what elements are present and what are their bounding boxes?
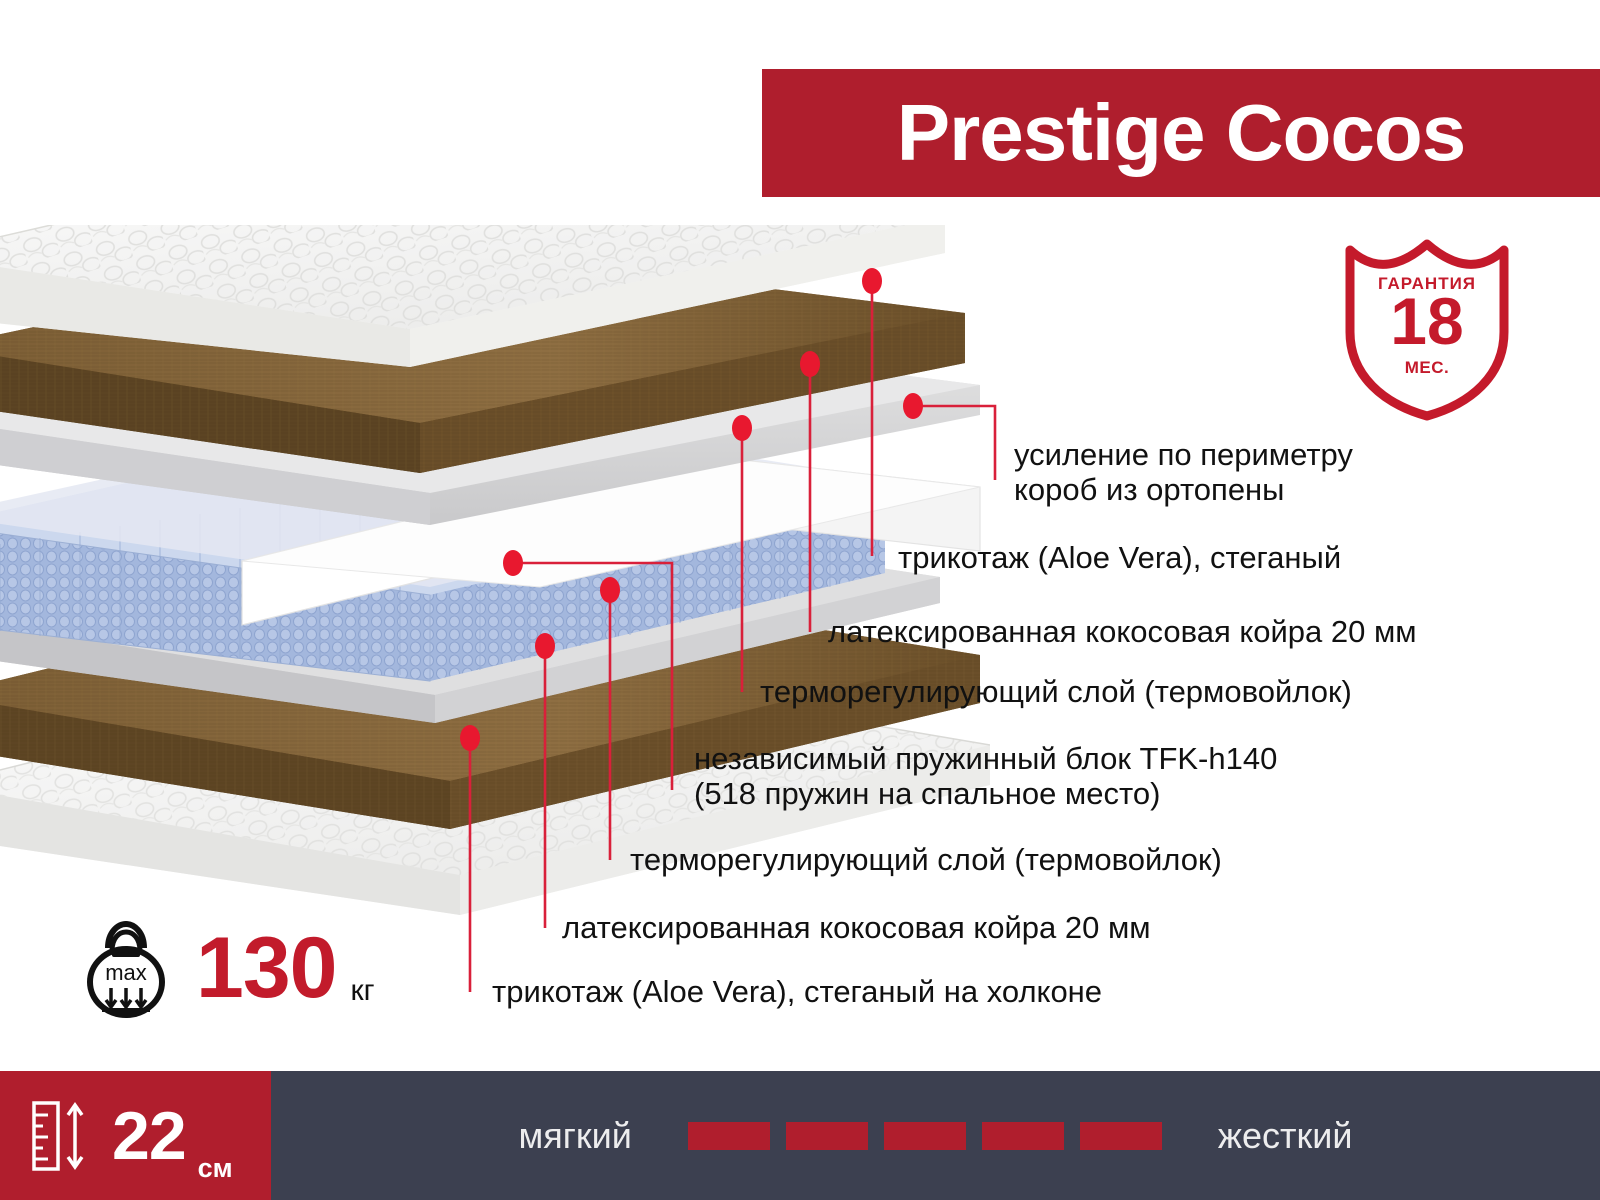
- kettlebell-icon: max: [78, 918, 174, 1018]
- firmness-segment: [884, 1122, 966, 1150]
- max-weight-unit: кг: [351, 974, 375, 1020]
- page-title: Prestige Cocos: [897, 93, 1465, 173]
- height-value: 22: [112, 1102, 186, 1170]
- firmness-segment: [786, 1122, 868, 1150]
- max-weight-indicator: max 130 кг: [78, 915, 438, 1020]
- layer-label-knit-bottom: трикотаж (Aloe Vera), стеганый на холкон…: [492, 975, 1102, 1010]
- layer-label-spring-block: независимый пружинный блок TFK-h140 (518…: [694, 742, 1277, 811]
- mattress-cutaway-illustration: [0, 225, 990, 925]
- ruler-icon: [30, 1099, 100, 1173]
- svg-text:max: max: [105, 960, 147, 985]
- max-weight-value: 130: [196, 925, 337, 1011]
- warranty-badge: ГАРАНТИЯ 18 МЕС.: [1342, 236, 1512, 422]
- warranty-unit: МЕС.: [1342, 358, 1512, 378]
- firmness-soft-label: мягкий: [519, 1115, 632, 1157]
- firmness-segment: [982, 1122, 1064, 1150]
- layer-label-felt-top: терморегулирующий слой (термовойлок): [760, 675, 1352, 710]
- height-indicator: 22 см: [0, 1071, 271, 1200]
- firmness-scale: мягкий жесткий: [271, 1071, 1600, 1200]
- layer-label-coir-top: латексированная кокосовая койра 20 мм: [828, 615, 1417, 650]
- layer-label-perimeter: усиление по периметру короб из ортопены: [1014, 438, 1353, 507]
- firmness-segments: [688, 1122, 1162, 1150]
- product-title-banner: Prestige Cocos: [762, 69, 1600, 197]
- mattress-layers-graphic: [0, 225, 990, 925]
- bottom-info-bar: 22 см мягкий жесткий: [0, 1071, 1600, 1200]
- layer-label-coir-bottom: латексированная кокосовая койра 20 мм: [562, 911, 1151, 946]
- firmness-segment: [1080, 1122, 1162, 1150]
- height-unit: см: [198, 1153, 233, 1200]
- layer-label-felt-bottom: терморегулирующий слой (термовойлок): [630, 843, 1222, 878]
- warranty-value: 18: [1342, 288, 1512, 354]
- firmness-hard-label: жесткий: [1218, 1115, 1353, 1157]
- layer-label-knit-top: трикотаж (Aloe Vera), стеганый: [898, 541, 1341, 576]
- firmness-segment: [688, 1122, 770, 1150]
